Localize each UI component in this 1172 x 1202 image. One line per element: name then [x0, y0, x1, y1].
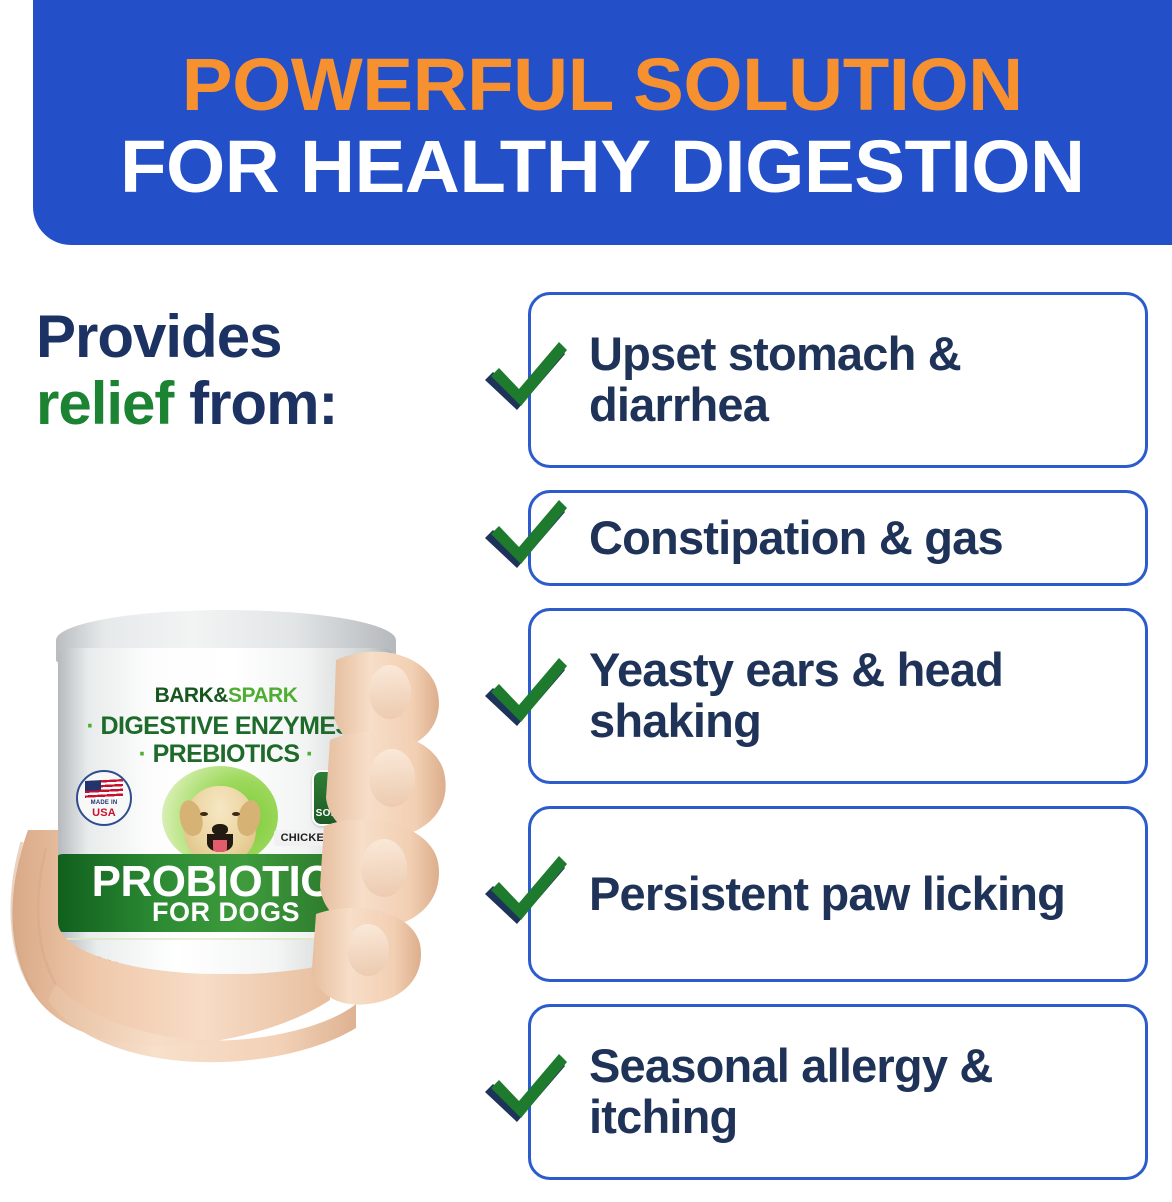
- product-photo: BARK&SPARK · DIGESTIVE ENZYMES · · PREBI…: [0, 580, 470, 1080]
- green-check-icon: [479, 1050, 571, 1134]
- benefit-card[interactable]: Upset stomach & diarrhea: [528, 292, 1148, 468]
- us-flag-icon: [85, 779, 123, 800]
- product-title-band: PROBIOTICS FOR DOGS: [58, 854, 394, 932]
- headline-word-from: from:: [189, 370, 337, 437]
- benefit-card[interactable]: Seasonal allergy & itching: [528, 1004, 1148, 1180]
- banner-headline-secondary: FOR HEALTHY DIGESTION: [120, 129, 1085, 204]
- dog-eye-left: [200, 812, 208, 816]
- dog-photo: [162, 766, 278, 866]
- brand-name-part2: SPARK: [228, 684, 297, 707]
- product-subtitle: FOR DOGS: [58, 897, 394, 928]
- benefit-card[interactable]: Yeasty ears & head shaking: [528, 608, 1148, 784]
- headline-word-provides: Provides: [36, 303, 281, 370]
- label-subline-prebiotics: · PREBIOTICS ·: [58, 740, 394, 769]
- dog-ear-left: [176, 798, 205, 838]
- banner-headline-primary: POWERFUL SOLUTION: [182, 47, 1023, 122]
- dog-ear-right: [234, 798, 263, 838]
- headline-word-relief: relief: [36, 370, 173, 437]
- jar-label: BARK&SPARK · DIGESTIVE ENZYMES · · PREBI…: [58, 648, 394, 974]
- green-check-icon: [479, 496, 571, 580]
- serving-count-number: 180: [314, 776, 380, 807]
- serving-count-label: SOFT CHEW: [314, 808, 380, 819]
- jar-bottom-shine: [58, 940, 394, 974]
- benefit-label: Seasonal allergy & itching: [589, 1041, 1127, 1143]
- brand-logo: BARK&SPARK: [58, 684, 394, 708]
- dog-head: [184, 786, 256, 864]
- made-in-label: MADE IN: [78, 800, 130, 806]
- green-check-icon: [479, 852, 571, 936]
- dog-tongue: [213, 840, 227, 852]
- benefit-card-list: Upset stomach & diarrhea Constipation & …: [528, 292, 1148, 1202]
- benefit-label: Persistent paw licking: [589, 869, 1065, 920]
- green-check-icon: [479, 654, 571, 738]
- benefit-label: Yeasty ears & head shaking: [589, 645, 1127, 747]
- dog-eye-right: [232, 812, 240, 816]
- label-enzymes-text: DIGESTIVE ENZYMES: [101, 712, 352, 740]
- supplement-jar: BARK&SPARK · DIGESTIVE ENZYMES · · PREBI…: [56, 610, 396, 980]
- benefit-label: Upset stomach & diarrhea: [589, 329, 1127, 431]
- serving-count-badge: 180 SOFT CHEW: [312, 770, 382, 826]
- bullet-dot-right: ·: [306, 740, 314, 768]
- header-banner: POWERFUL SOLUTION FOR HEALTHY DIGESTION: [33, 0, 1172, 245]
- dog-mouth: [207, 834, 233, 852]
- benefit-label: Constipation & gas: [589, 513, 1003, 564]
- section-headline: Provides relief from:: [36, 303, 496, 437]
- bullet-dot-left: ·: [139, 740, 147, 768]
- label-prebiotics-text: PREBIOTICS: [153, 740, 300, 768]
- made-in-usa-icon: MADE IN USA: [76, 770, 132, 826]
- brand-name-part1: BARK: [155, 684, 214, 707]
- benefit-card[interactable]: Constipation & gas: [528, 490, 1148, 586]
- flavor-badge: CHICKEN FLAVOR: [274, 830, 388, 846]
- benefit-card[interactable]: Persistent paw licking: [528, 806, 1148, 982]
- bullet-dot-left: ·: [86, 712, 94, 740]
- made-in-country: USA: [78, 807, 130, 819]
- brand-ampersand: &: [213, 684, 228, 707]
- bullet-dot-right: ·: [358, 712, 366, 740]
- label-subline-enzymes: · DIGESTIVE ENZYMES ·: [58, 712, 394, 741]
